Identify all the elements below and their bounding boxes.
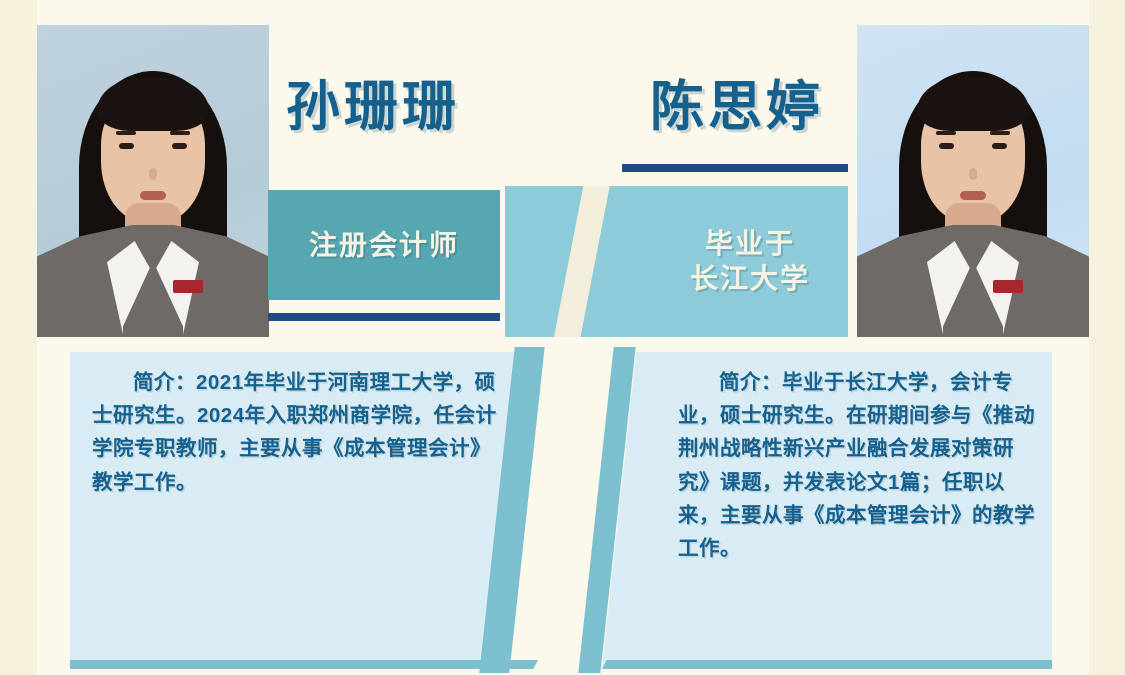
eyebrow-left xyxy=(116,131,136,135)
navy-rule-right xyxy=(622,164,848,172)
lapel-badge-icon xyxy=(173,280,203,293)
portrait-photo-left xyxy=(37,25,269,337)
fringe-shape xyxy=(97,77,209,131)
person-name-left: 孙珊珊 xyxy=(286,80,460,134)
bio-panel-left-underbar xyxy=(70,660,538,669)
credential-label-right: 毕业于 长江大学 xyxy=(660,226,840,298)
bio-panel-right: 简介：毕业于长江大学，会计专业，硕士研究生。在研期间参与《推动荆州战略性新兴产业… xyxy=(602,352,1052,668)
bio-panel-right-underbar xyxy=(602,660,1052,669)
credential-block-right: 毕业于 长江大学 xyxy=(505,186,848,337)
eyebrow-left xyxy=(936,131,956,135)
lapel-badge-icon xyxy=(993,280,1023,293)
eyebrow-right xyxy=(990,131,1010,135)
credential-line-2: 长江大学 xyxy=(660,262,840,298)
portrait-photo-right xyxy=(857,25,1089,337)
eyebrow-right xyxy=(170,131,190,135)
bio-text-right: 简介：毕业于长江大学，会计专业，硕士研究生。在研期间参与《推动荆州战略性新兴产业… xyxy=(678,366,1043,565)
diagonal-slash-decor xyxy=(547,186,615,337)
poster-root: 孙珊珊 注册会计师 毕业于 长江大学 陈思婷 简介：2021年毕业于河南理工大学… xyxy=(0,0,1125,675)
navy-rule-left xyxy=(268,313,500,321)
credential-line-1: 毕业于 xyxy=(660,226,840,262)
nose-shape xyxy=(969,168,977,180)
person-name-right: 陈思婷 xyxy=(650,80,824,134)
eye-left xyxy=(119,143,134,149)
eye-left xyxy=(939,143,954,149)
bio-text-left: 简介：2021年毕业于河南理工大学，硕士研究生。2024年入职郑州商学院，任会计… xyxy=(92,366,498,499)
eye-right xyxy=(172,143,187,149)
credential-block-left: 注册会计师 xyxy=(268,190,500,300)
nose-shape xyxy=(149,168,157,180)
eye-right xyxy=(992,143,1007,149)
mouth-shape xyxy=(960,191,986,200)
bio-panel-left: 简介：2021年毕业于河南理工大学，硕士研究生。2024年入职郑州商学院，任会计… xyxy=(70,352,538,668)
fringe-shape xyxy=(917,77,1029,131)
credential-label-left: 注册会计师 xyxy=(268,228,500,261)
mouth-shape xyxy=(140,191,166,200)
